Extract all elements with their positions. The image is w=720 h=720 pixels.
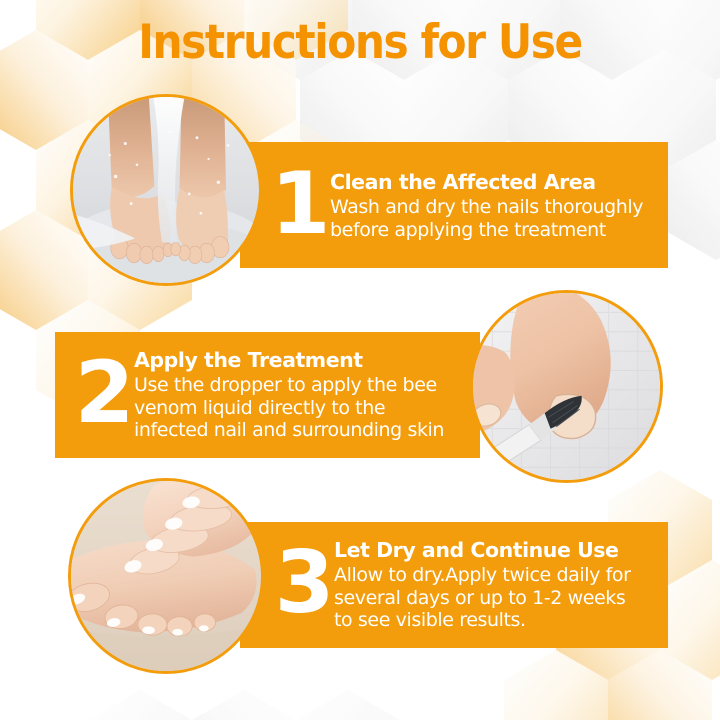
step-3-body: Allow to dry.Apply twice daily for sever… (334, 564, 664, 631)
step-3-photo (68, 478, 264, 674)
step-2-content: 2 Apply the Treatment Use the dropper to… (72, 340, 472, 450)
step-2-title: Apply the Treatment (134, 349, 472, 373)
step-3-number: 3 (272, 549, 334, 618)
step-2-photo (470, 290, 663, 483)
step-2-number: 2 (72, 359, 134, 428)
step-1-photo (70, 94, 262, 286)
step-3-text-block: Let Dry and Continue Use Allow to dry.Ap… (334, 539, 664, 632)
step-3-content: 3 Let Dry and Continue Use Allow to dry.… (272, 528, 664, 642)
step-1-title: Clean the Affected Area (330, 171, 660, 195)
step-1-body: Wash and dry the nails thoroughly before… (330, 196, 660, 241)
step-1-number: 1 (268, 170, 330, 239)
step-2-body: Use the dropper to apply the bee venom l… (134, 374, 472, 441)
instructions-poster: Instructions for Use 1 Clean the Affecte… (0, 0, 720, 720)
step-3-title: Let Dry and Continue Use (334, 539, 664, 563)
step-1-content: 1 Clean the Affected Area Wash and dry t… (268, 152, 660, 260)
page-title: Instructions for Use (36, 18, 684, 67)
step-2-text-block: Apply the Treatment Use the dropper to a… (134, 349, 472, 442)
step-1-text-block: Clean the Affected Area Wash and dry the… (330, 171, 660, 241)
